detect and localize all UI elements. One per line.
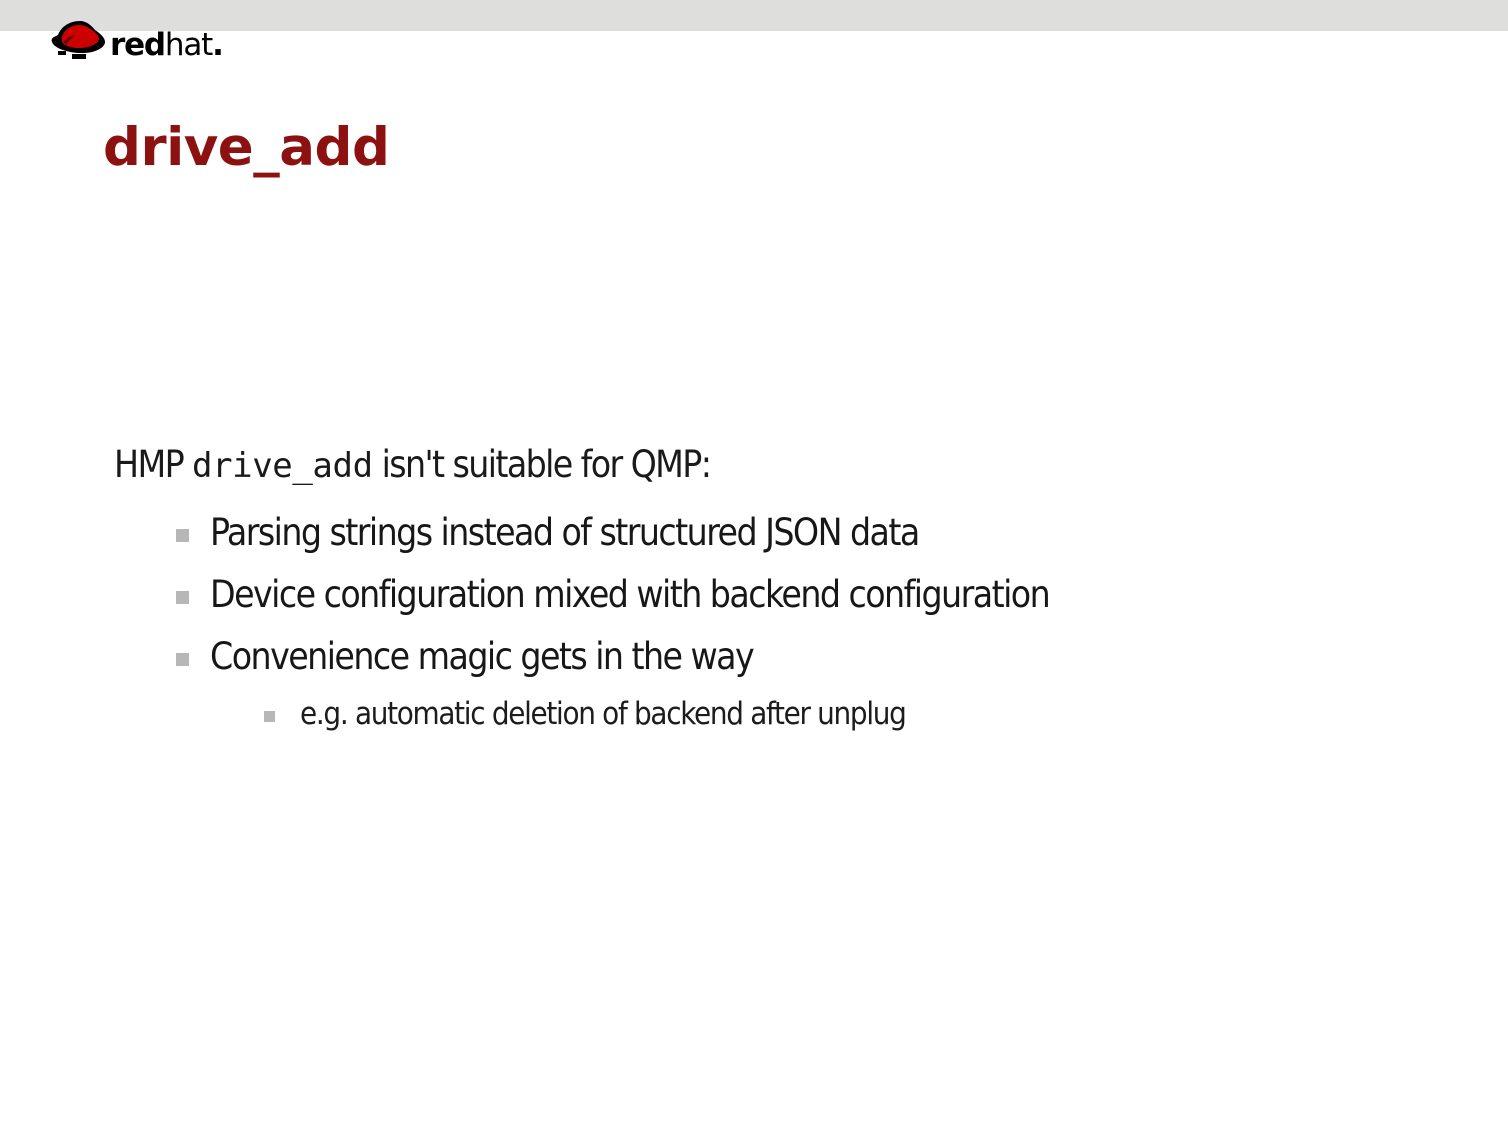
square-bullet-icon — [176, 529, 189, 542]
list-item: Device configuration mixed with backend … — [114, 572, 1444, 618]
square-bullet-icon — [176, 653, 189, 666]
list-item: Parsing strings instead of structured JS… — [114, 510, 1444, 556]
list-item-label: Device configuration mixed with backend … — [210, 572, 1444, 618]
redhat-wordmark: redhat. — [110, 30, 223, 61]
square-bullet-icon — [264, 711, 275, 722]
slide-body: HMP drive_add isn't suitable for QMP: Pa… — [114, 443, 1444, 738]
logo-word-dot: . — [212, 27, 223, 63]
slide-title: drive_add — [103, 119, 389, 177]
logo-word-red: red — [110, 27, 165, 63]
redhat-logo: redhat. — [50, 17, 223, 63]
header-band — [0, 0, 1508, 31]
list-item-label: Convenience magic gets in the way — [210, 634, 1444, 680]
sub-list-item: e.g. automatic deletion of backend after… — [210, 694, 1444, 734]
list-item-label: Parsing strings instead of structured JS… — [210, 510, 1444, 556]
list-item: Convenience magic gets in the way e.g. a… — [114, 634, 1444, 734]
lead-before: HMP — [114, 443, 192, 486]
lead-after: isn't suitable for QMP: — [373, 443, 711, 486]
lead-code: drive_add — [192, 446, 373, 486]
sub-list-item-label: e.g. automatic deletion of backend after… — [300, 694, 1444, 734]
bullet-list-level2: e.g. automatic deletion of backend after… — [210, 694, 1444, 734]
square-bullet-icon — [176, 591, 189, 604]
lead-line: HMP drive_add isn't suitable for QMP: — [114, 443, 1444, 488]
redhat-fedora-icon — [50, 18, 112, 62]
logo-word-hat: hat — [165, 27, 212, 63]
bullet-list-level1: Parsing strings instead of structured JS… — [114, 510, 1444, 734]
